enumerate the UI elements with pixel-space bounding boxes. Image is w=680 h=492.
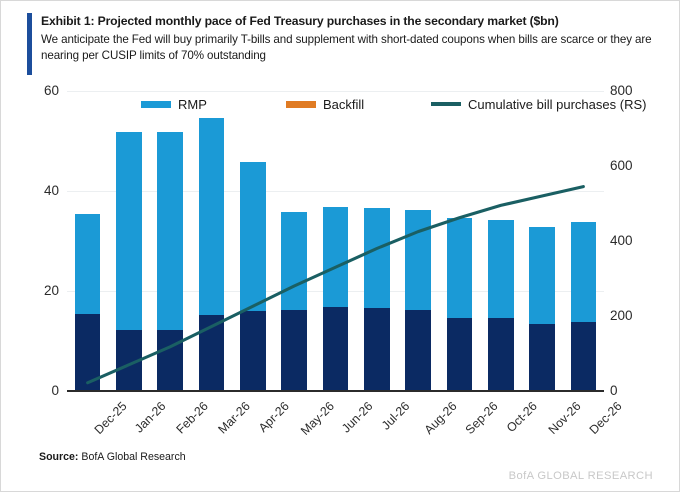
x-tick-label: Sep-26 [463,399,501,437]
x-tick-label: Jun-26 [339,399,375,435]
page-subtitle: We anticipate the Fed will buy primarily… [41,32,659,63]
bar-segment-bills-base[interactable] [364,308,390,391]
plot-area [67,91,604,391]
bar-group[interactable] [405,91,431,391]
legend-label: Cumulative bill purchases (RS) [468,97,646,112]
legend-line-swatch-icon [431,102,461,105]
right-tick-label: 200 [610,309,666,322]
legend-item-cumulative-bill-purchases-rs[interactable]: Cumulative bill purchases (RS) [431,95,646,113]
legend-item-backfill[interactable]: Backfill [286,95,364,113]
left-tick-label: 20 [13,284,59,297]
bar-segment-bills-base[interactable] [240,311,266,391]
bar-group[interactable] [240,91,266,391]
header-text-block: Exhibit 1: Projected monthly pace of Fed… [41,13,659,75]
bar-segment-rmp[interactable] [323,207,349,307]
legend-label: RMP [178,97,207,112]
bar-group[interactable] [75,91,101,391]
bar-segment-bills-base[interactable] [405,310,431,391]
bar-segment-rmp[interactable] [571,222,597,322]
source-label: Source: [39,451,78,463]
left-tick-label: 40 [13,184,59,197]
bar-segment-rmp[interactable] [240,162,266,311]
legend-label: Backfill [323,97,364,112]
bar-segment-rmp[interactable] [281,212,307,310]
x-tick-label: May-26 [298,399,337,438]
bar-segment-rmp[interactable] [75,214,101,314]
x-tick-label: Mar-26 [215,399,252,436]
legend-item-rmp[interactable]: RMP [141,95,207,113]
x-tick-label: Aug-26 [422,399,460,437]
bar-group[interactable] [323,91,349,391]
bar-group[interactable] [571,91,597,391]
chart-legend: RMPBackfillCumulative bill purchases (RS… [141,95,611,113]
bar-group[interactable] [364,91,390,391]
bar-segment-bills-base[interactable] [75,314,101,391]
bar-segment-bills-base[interactable] [116,330,142,391]
bar-segment-bills-base[interactable] [157,330,183,391]
bar-group[interactable] [529,91,555,391]
bar-segment-rmp[interactable] [364,208,390,308]
watermark: BofA GLOBAL RESEARCH [509,470,653,482]
bar-segment-rmp[interactable] [488,220,514,318]
bar-segment-bills-base[interactable] [529,324,555,391]
bar-group[interactable] [116,91,142,391]
right-tick-label: 0 [610,384,666,397]
accent-bar [27,13,32,75]
bar-segment-rmp[interactable] [116,132,142,330]
bar-segment-bills-base[interactable] [488,318,514,391]
page-title: Exhibit 1: Projected monthly pace of Fed… [41,14,659,29]
bar-segment-bills-base[interactable] [199,315,225,391]
bar-segment-bills-base[interactable] [447,318,473,391]
left-tick-label: 0 [13,384,59,397]
bar-group[interactable] [157,91,183,391]
left-tick-label: 60 [13,84,59,97]
x-tick-label: Apr-26 [256,399,292,435]
x-tick-label: Dec-25 [91,399,129,437]
chart-page: Exhibit 1: Projected monthly pace of Fed… [0,0,680,492]
legend-color-swatch-icon [286,101,316,108]
x-tick-label: Feb-26 [174,399,211,436]
right-tick-label: 600 [610,159,666,172]
bar-segment-bills-base[interactable] [323,307,349,391]
bar-segment-rmp[interactable] [529,227,555,324]
x-tick-label: Nov-26 [546,399,584,437]
source-note: Source: BofA Global Research [39,451,186,463]
bar-segment-rmp[interactable] [199,118,225,315]
bar-segment-bills-base[interactable] [281,310,307,391]
source-text: BofA Global Research [78,451,185,463]
exhibit-header: Exhibit 1: Projected monthly pace of Fed… [27,13,659,75]
x-tick-label: Jul-26 [379,399,413,433]
legend-color-swatch-icon [141,101,171,108]
bar-series-container [67,91,604,391]
bar-segment-rmp[interactable] [405,210,431,310]
bar-group[interactable] [447,91,473,391]
x-tick-label: Oct-26 [504,399,540,435]
axis-baseline [67,390,604,392]
x-tick-label: Jan-26 [132,399,168,435]
bar-group[interactable] [488,91,514,391]
bar-segment-rmp[interactable] [157,132,183,330]
bar-group[interactable] [199,91,225,391]
bar-segment-bills-base[interactable] [571,322,597,391]
bar-segment-rmp[interactable] [447,218,473,318]
x-axis-labels: Dec-25Jan-26Feb-26Mar-26Apr-26May-26Jun-… [67,393,604,455]
right-tick-label: 400 [610,234,666,247]
x-tick-label: Dec-26 [587,399,625,437]
bar-group[interactable] [281,91,307,391]
